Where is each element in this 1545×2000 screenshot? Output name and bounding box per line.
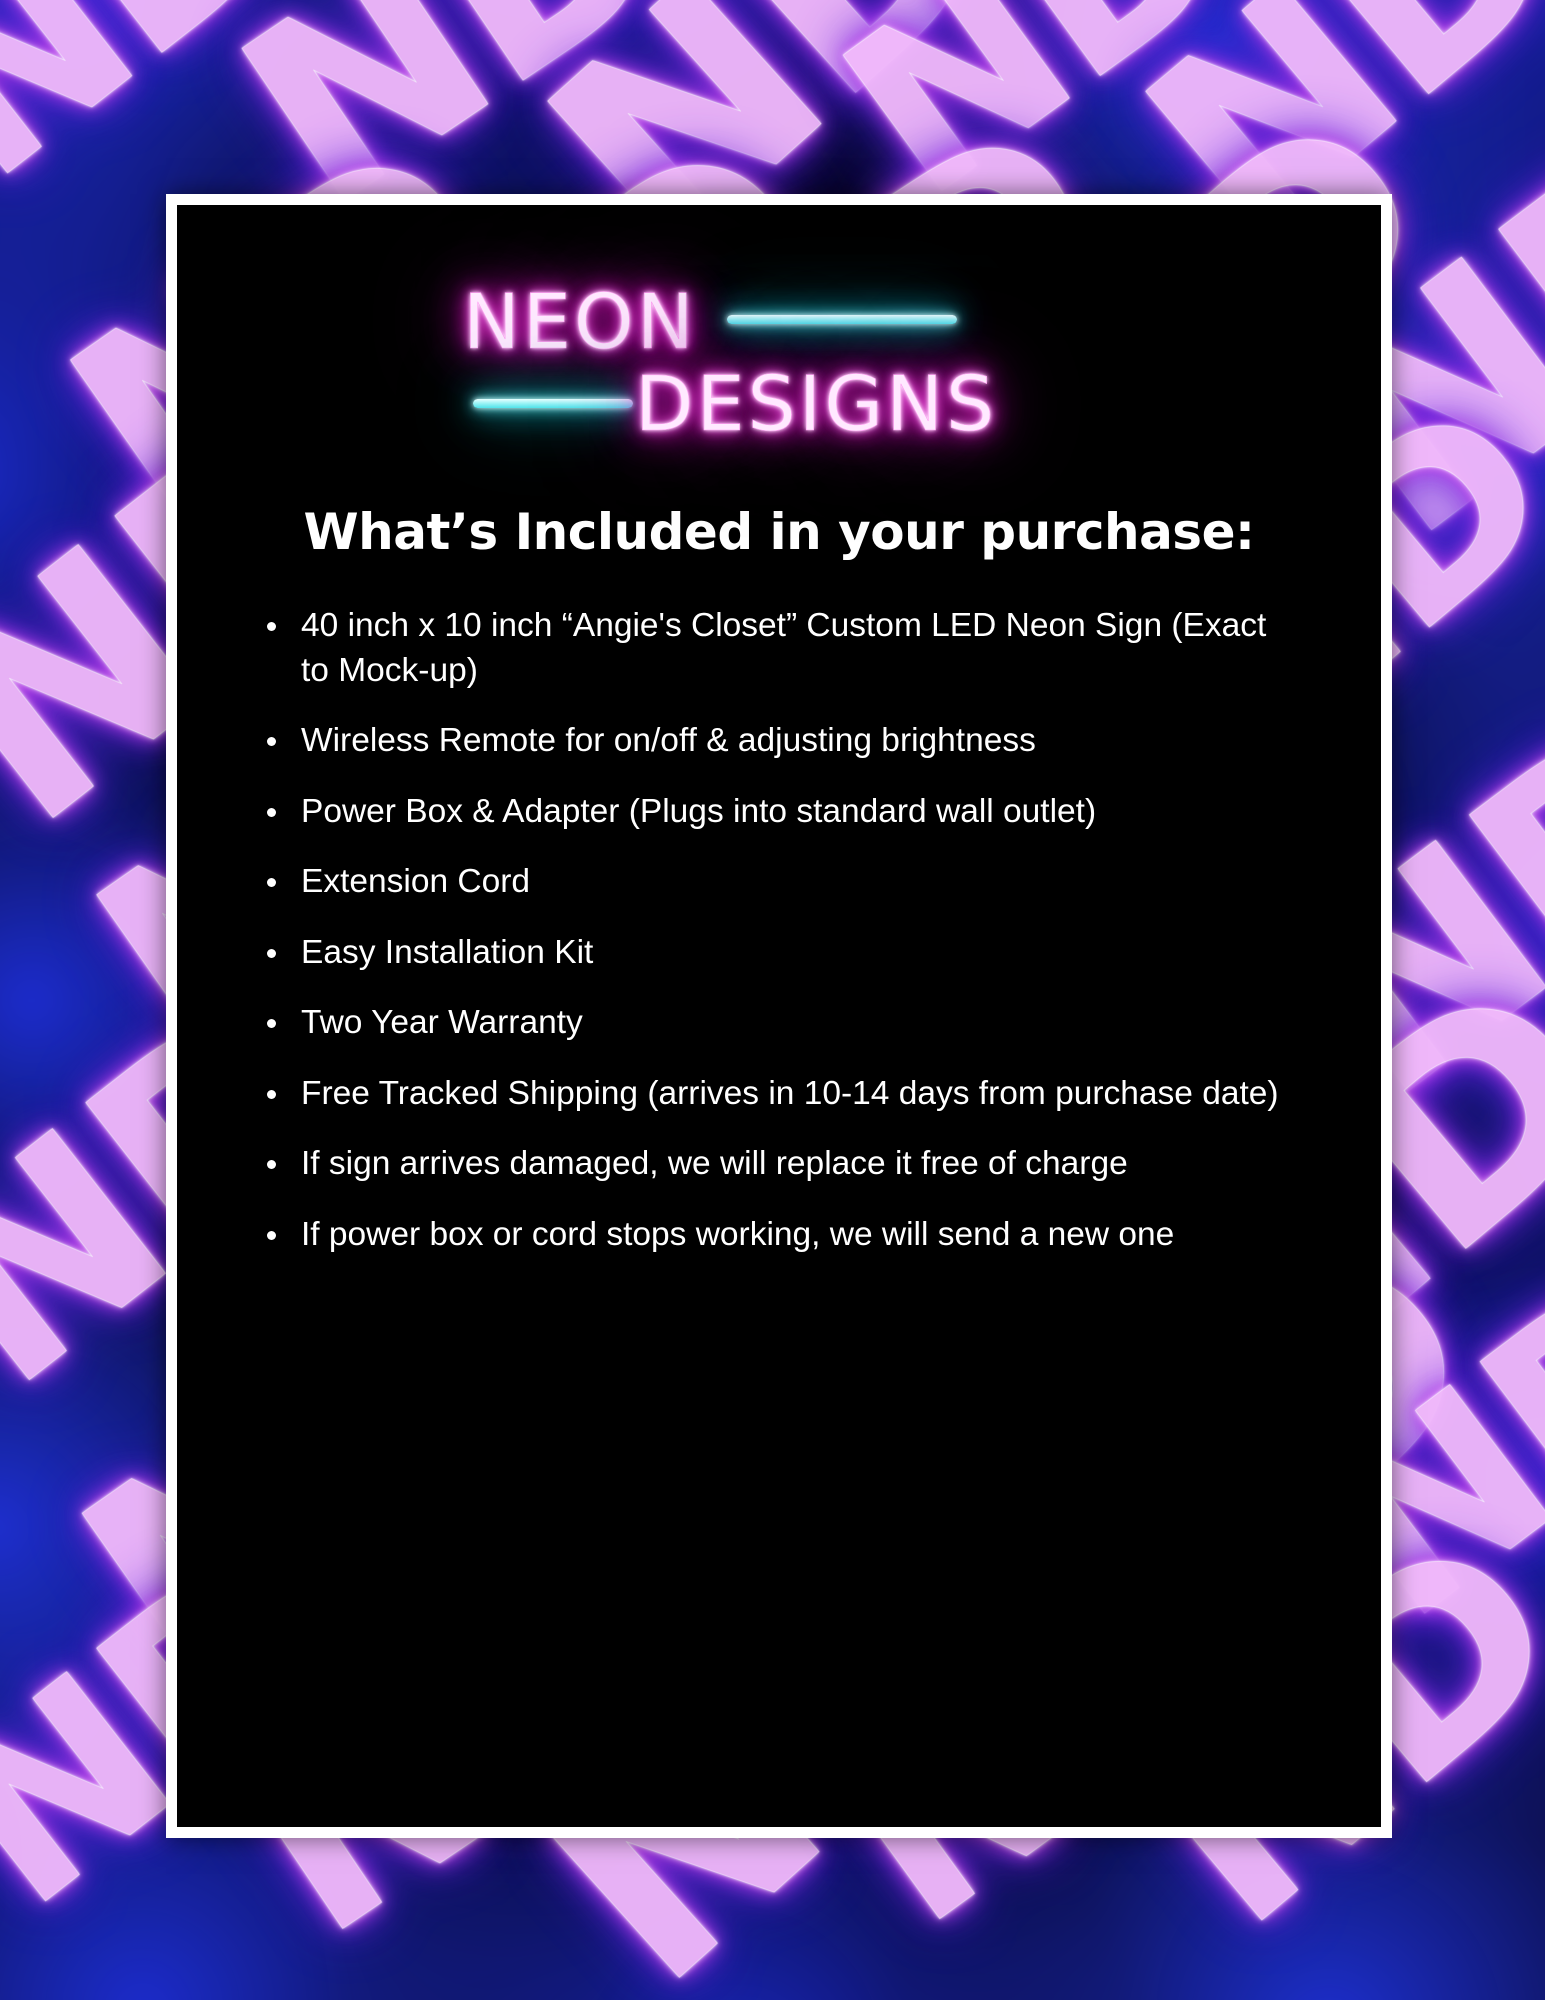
logo-cyan-bar-bottom	[473, 399, 633, 408]
list-item: Extension Cord	[261, 860, 1303, 905]
card-body: NEON DESIGNS What’s Included in your pur…	[177, 205, 1381, 1827]
list-item: If sign arrives damaged, we will replace…	[261, 1142, 1303, 1187]
list-item: Easy Installation Kit	[261, 931, 1303, 976]
logo-word-designs: DESIGNS	[635, 359, 997, 448]
neon-designs-purchase-flyer: NDNDNDNDNDNDNDNDNDNDNDNDNDNDNDNDNDNDNDND…	[0, 0, 1545, 2000]
list-item: Two Year Warranty	[261, 1001, 1303, 1046]
list-item: If power box or cord stops working, we w…	[261, 1213, 1303, 1258]
included-items-list: 40 inch x 10 inch “Angie's Closet” Custo…	[177, 604, 1381, 1257]
logo-word-neon: NEON	[463, 277, 697, 366]
card-white-frame: NEON DESIGNS What’s Included in your pur…	[166, 194, 1392, 1838]
logo-cyan-bar-top	[727, 315, 957, 324]
list-item: Free Tracked Shipping (arrives in 10-14 …	[261, 1072, 1303, 1117]
neon-designs-logo: NEON DESIGNS	[449, 271, 1109, 463]
list-item: Wireless Remote for on/off & adjusting b…	[261, 719, 1303, 764]
page-title: What’s Included in your purchase:	[177, 505, 1381, 560]
list-item: 40 inch x 10 inch “Angie's Closet” Custo…	[261, 604, 1303, 693]
list-item: Power Box & Adapter (Plugs into standard…	[261, 790, 1303, 835]
